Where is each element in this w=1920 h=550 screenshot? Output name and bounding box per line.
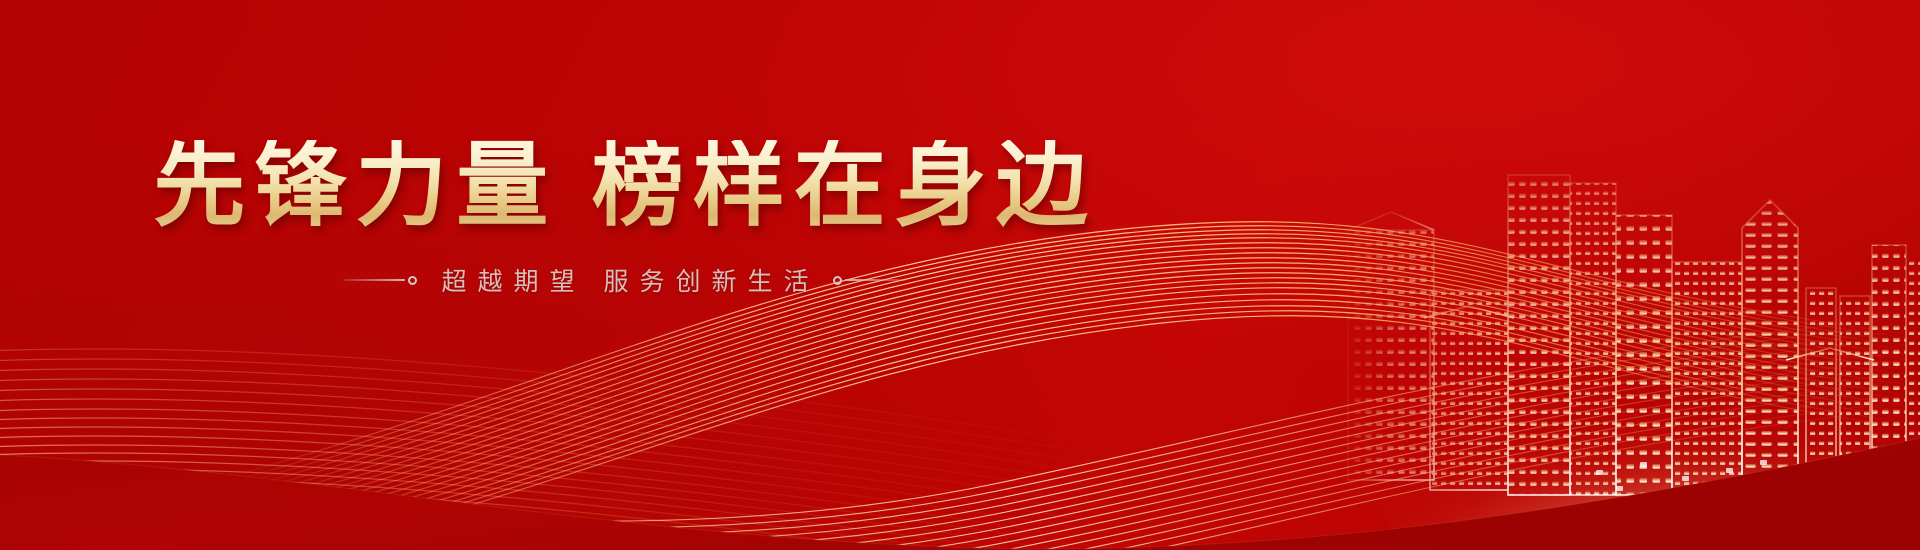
decoration-bar	[845, 279, 907, 281]
line-dot-decoration-left	[343, 276, 417, 285]
decoration-bar	[343, 279, 405, 281]
page-subtitle: 超越期望 服务创新生活	[431, 262, 820, 298]
decoration-dot	[833, 276, 842, 285]
subtitle-row: 超越期望 服务创新生活	[0, 262, 1250, 298]
promotional-banner: 先锋力量 榜样在身边 超越期望 服务创新生活	[0, 0, 1920, 550]
headline-block: 先锋力量 榜样在身边 超越期望 服务创新生活	[0, 140, 1250, 298]
decoration-dot	[408, 276, 417, 285]
dot-line-decoration-right	[833, 276, 907, 285]
page-title: 先锋力量 榜样在身边	[0, 140, 1250, 242]
bottom-wave-shape	[0, 438, 1920, 550]
